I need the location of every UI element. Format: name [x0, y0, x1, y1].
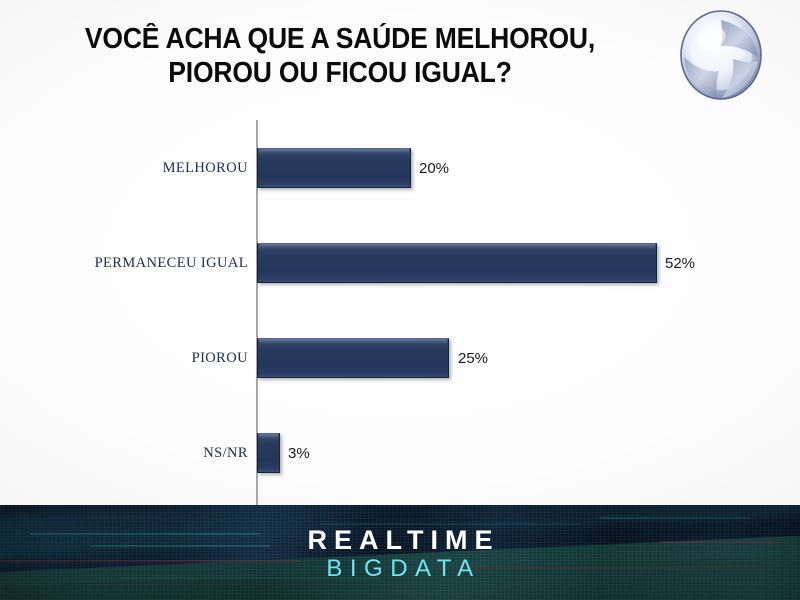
bar-permaneceu-igual: [257, 243, 657, 283]
value-label-permaneceu-igual: 52%: [665, 243, 695, 283]
bar-melhorou: [257, 148, 411, 188]
category-label-piorou: PIOROU: [0, 338, 248, 378]
chart-row: MELHOROU 20%: [0, 148, 800, 188]
bar-ns-nr: [257, 433, 280, 473]
chart-row: PIOROU 25%: [0, 338, 800, 378]
realtime-bigdata-logo: REALTIME BIGDATA: [0, 526, 800, 583]
title-line-1: VOCÊ ACHA QUE A SAÚDE MELHOROU,: [24, 22, 656, 56]
brand-name-realtime: REALTIME: [0, 526, 800, 555]
category-label-ns-nr: NS/NR: [0, 433, 248, 473]
category-label-permaneceu-igual: PERMANECEU IGUAL: [0, 243, 248, 283]
brand-name-bigdata: BIGDATA: [0, 555, 800, 583]
category-label-melhorou: MELHOROU: [0, 148, 248, 188]
record-tv-logo-icon: [678, 9, 764, 101]
page-title: VOCÊ ACHA QUE A SAÚDE MELHOROU, PIOROU O…: [0, 22, 680, 90]
value-label-melhorou: 20%: [419, 148, 449, 188]
footer-banner: REALTIME BIGDATA: [0, 505, 800, 600]
bar-chart: MELHOROU 20% PERMANECEU IGUAL 52% PIOROU…: [0, 112, 800, 507]
value-label-ns-nr: 3%: [288, 433, 310, 473]
slide-canvas: VOCÊ ACHA QUE A SAÚDE MELHOROU, PIOROU O…: [0, 0, 800, 600]
chart-row: NS/NR 3%: [0, 433, 800, 473]
chart-row: PERMANECEU IGUAL 52%: [0, 243, 800, 283]
bar-piorou: [257, 338, 449, 378]
value-label-piorou: 25%: [458, 338, 488, 378]
title-line-2: PIOROU OU FICOU IGUAL?: [24, 56, 656, 90]
